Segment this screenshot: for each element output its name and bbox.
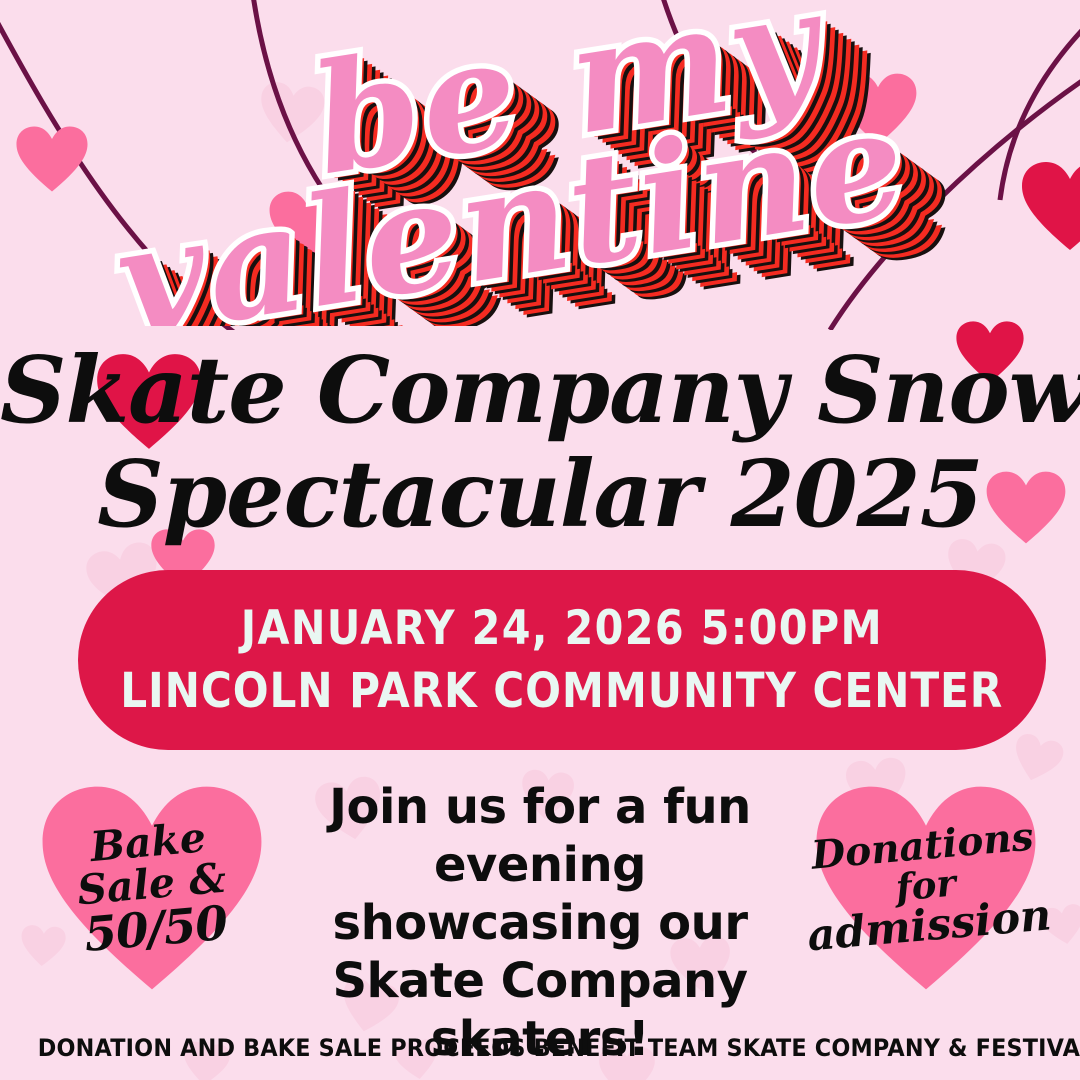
event-name-heading: Skate Company Snowflake Spectacular 2025 xyxy=(0,338,1080,546)
donations-label: Donations for admission xyxy=(803,772,1049,1003)
donations-line3: admission xyxy=(806,894,1053,959)
bake-sale-heart-badge: Bake Sale & 50/50 xyxy=(38,782,266,994)
bake-sale-line3: 50/50 xyxy=(82,900,229,960)
display-title: be my valentine xyxy=(0,6,1080,326)
display-title-art: be my valentine xyxy=(0,6,1080,326)
description-line3: showcasing our xyxy=(300,894,780,952)
banner-date-time: JANUARY 24, 2026 5:00PM xyxy=(241,598,883,660)
event-name-line1: Skate Company Snowflake xyxy=(0,338,1080,442)
description-line4: Skate Company xyxy=(300,952,780,1010)
valentine-event-poster: be my valentine xyxy=(0,0,1080,1080)
event-description: Join us for a fun evening showcasing our… xyxy=(300,778,780,1068)
proceeds-footer-note: DONATION AND BAKE SALE PROCEEDS BENEFIT … xyxy=(38,1034,1042,1062)
donations-heart-badge: Donations for admission xyxy=(812,782,1040,994)
description-line1: Join us for a fun xyxy=(300,778,780,836)
description-line2: evening xyxy=(300,836,780,894)
event-name-line2: Spectacular 2025 xyxy=(0,442,1080,546)
banner-venue: LINCOLN PARK COMMUNITY CENTER xyxy=(121,660,1004,722)
bake-sale-label: Bake Sale & 50/50 xyxy=(29,772,275,1003)
event-details-banner: JANUARY 24, 2026 5:00PM LINCOLN PARK COM… xyxy=(78,570,1046,750)
